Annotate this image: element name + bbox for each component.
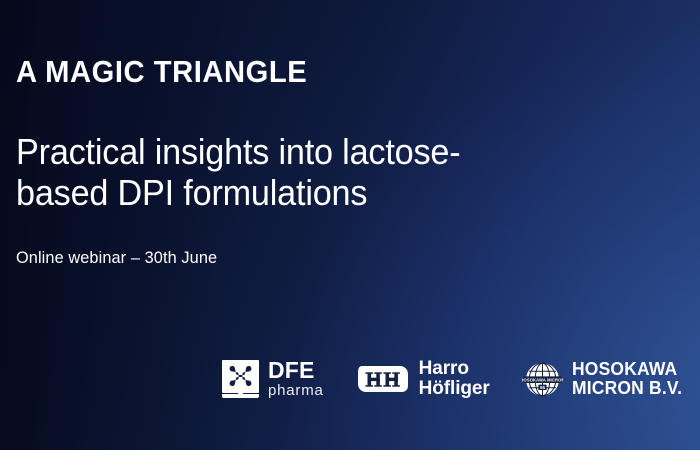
page-title: A MAGIC TRIANGLE: [16, 56, 542, 89]
harro-hofliger-hh-mark-icon: [356, 364, 410, 394]
harro-hofliger-line-1: Harro: [419, 359, 490, 379]
dfe-mark-glyph: [229, 365, 252, 387]
hosokawa-line-2: MICRON B.V.: [572, 379, 682, 398]
hosokawa-banner-text: HOSOKAWA MICRON: [522, 377, 563, 382]
subtitle: Practical insights into lactose- based D…: [16, 131, 548, 215]
dfe-wordmark-line-2: pharma: [268, 383, 324, 398]
event-date-text: Online webinar – 30th June: [16, 248, 554, 268]
dfe-mark-base-bar: [222, 394, 259, 398]
harro-hofliger-line-2: Höfliger: [419, 379, 490, 399]
dfe-x-mark-icon: [222, 359, 259, 399]
dfe-wordmark-line-1: DFE: [268, 359, 324, 382]
hosokawa-globe-shape: HOSOKAWA MICRON 55: [522, 359, 563, 400]
title-text-block: A MAGIC TRIANGLE Practical insights into…: [16, 56, 576, 268]
subtitle-line-1: Practical insights into lactose-: [16, 131, 548, 173]
hosokawa-mark-sub: 55: [540, 384, 546, 389]
hosokawa-globe-icon: HOSOKAWA MICRON 55: [522, 359, 563, 400]
dfe-wordmark: DFE pharma: [268, 359, 324, 400]
harro-hofliger-wordmark: Harro Höfliger: [419, 359, 490, 399]
logo-hosokawa-micron: HOSOKAWA MICRON 55 HOSOKAWA MICRON B.V.: [522, 359, 686, 400]
hosokawa-line-1: HOSOKAWA: [572, 360, 682, 379]
logo-dfe-pharma: DFE pharma: [222, 359, 324, 400]
webinar-title-slide: A MAGIC TRIANGLE Practical insights into…: [0, 0, 700, 450]
sponsor-logo-row: DFE pharma: [222, 352, 698, 406]
hh-mark-shape: [356, 364, 410, 394]
subtitle-line-2: based DPI formulations: [16, 172, 548, 214]
logo-harro-hofliger: Harro Höfliger: [356, 359, 490, 399]
hosokawa-wordmark: HOSOKAWA MICRON B.V.: [572, 360, 682, 398]
